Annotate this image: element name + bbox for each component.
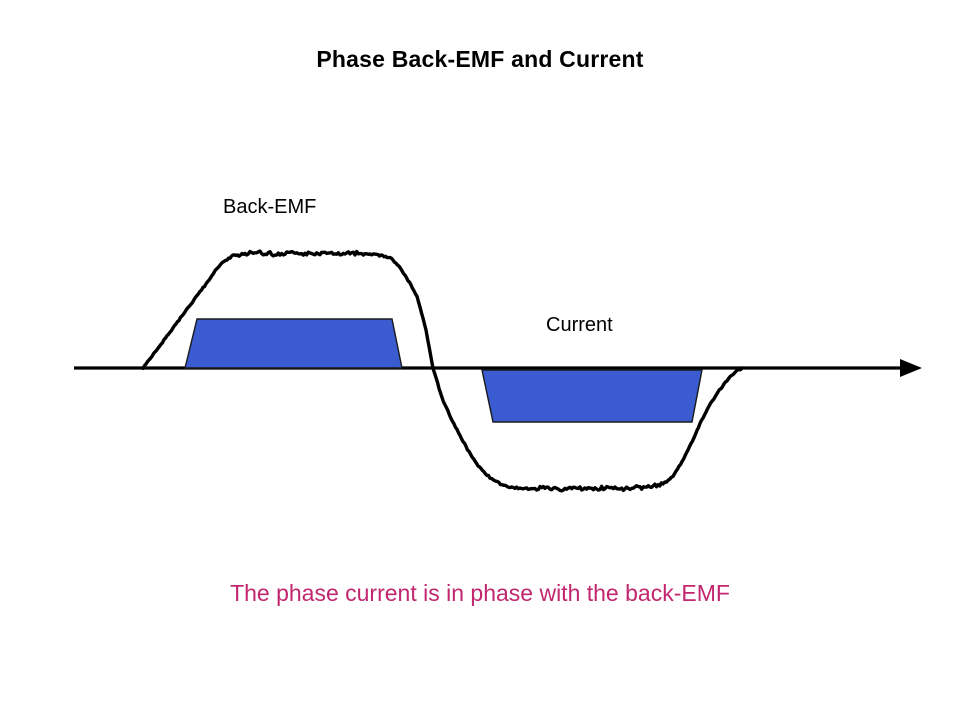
slide-caption: The phase current is in phase with the b… — [0, 580, 960, 607]
current-trapezoid-negative — [482, 370, 702, 422]
current-label: Current — [546, 314, 613, 337]
current-trapezoid-positive — [185, 319, 402, 368]
backemf-label: Back-EMF — [223, 196, 316, 219]
current-waveform — [185, 319, 702, 422]
waveform-figure — [0, 0, 960, 720]
axis-arrow-icon — [900, 359, 922, 377]
slide-canvas: Phase Back-EMF and Current Back-EMF Curr… — [0, 0, 960, 720]
